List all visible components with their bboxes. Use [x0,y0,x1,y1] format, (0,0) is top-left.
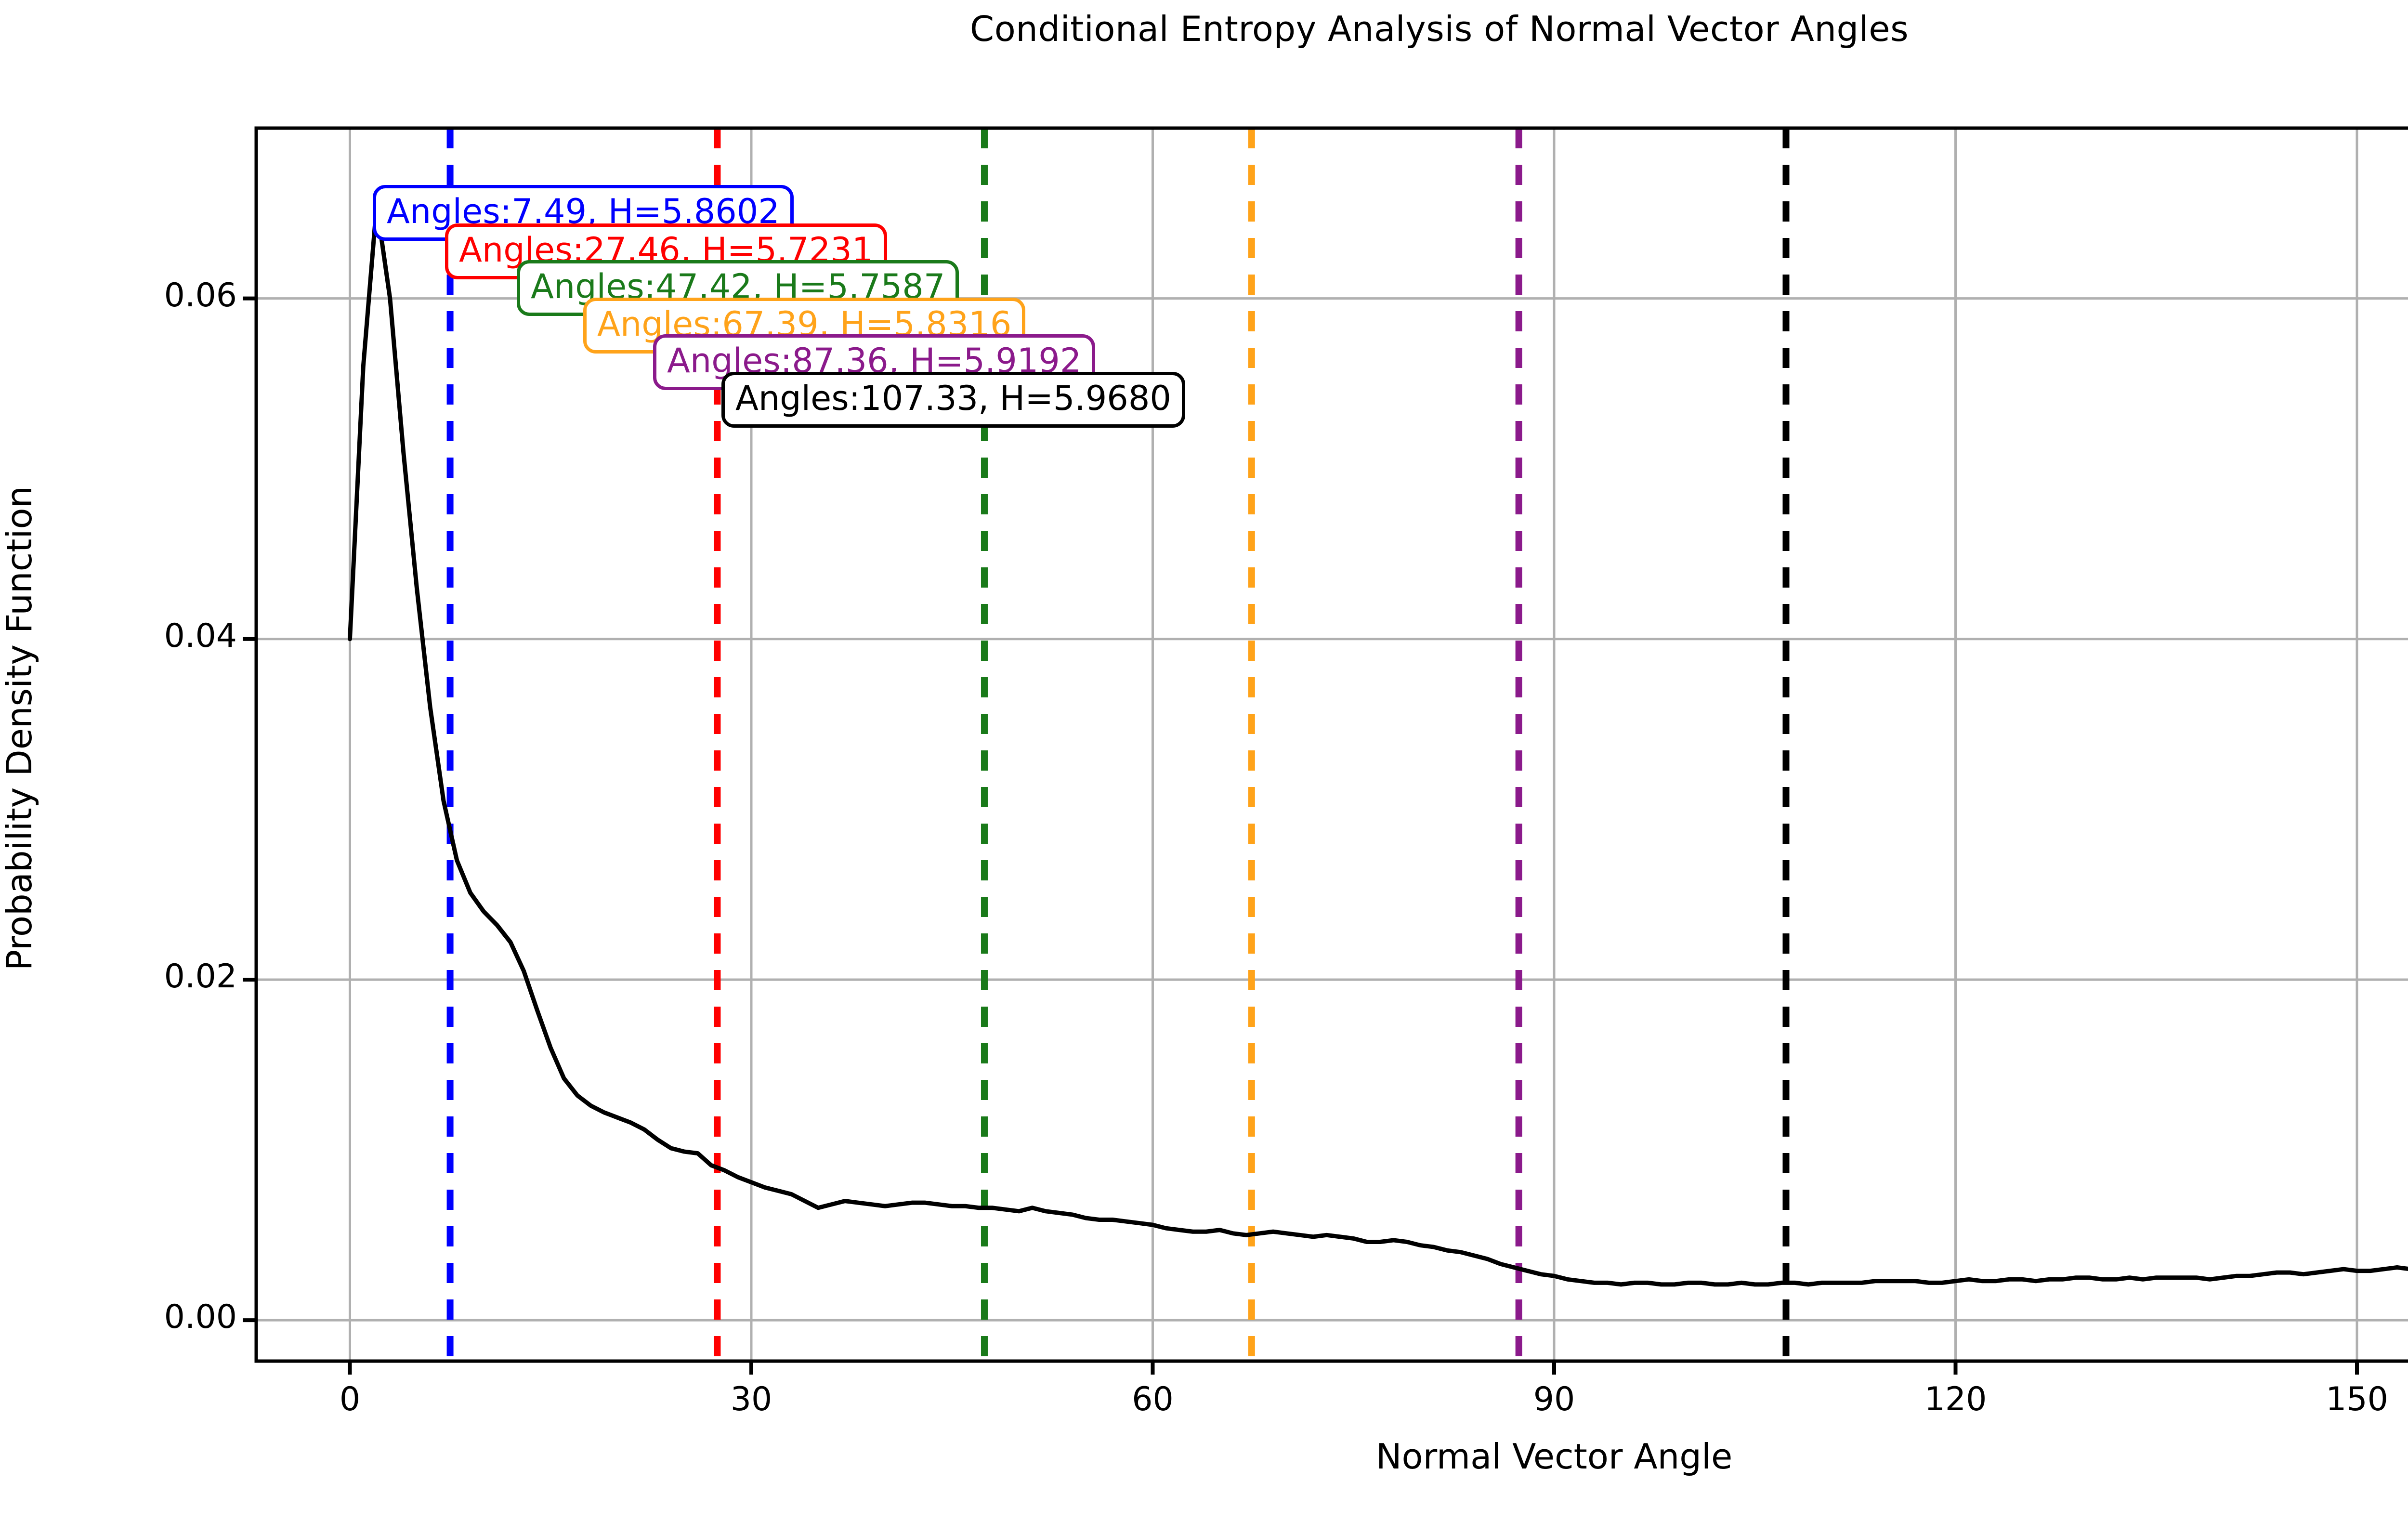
entropy-annotation-label: Angles:107.33, H=5.9680 [721,372,1185,428]
x-tick-label: 150 [2285,1380,2408,1418]
y-tick-label: 0.02 [35,957,237,996]
x-tick-label: 120 [1884,1380,2028,1418]
x-tick-label: 30 [679,1380,824,1418]
y-tick-label: 0.06 [35,276,237,315]
x-tick-label: 60 [1080,1380,1225,1418]
x-axis-label: Normal Vector Angle [256,1436,2408,1477]
chart-title: Conditional Entropy Analysis of Normal V… [0,9,2408,49]
y-tick-label: 0.04 [35,617,237,655]
figure: Conditional Entropy Analysis of Normal V… [0,0,2408,1534]
y-axis-label: Probability Density Function [0,391,39,1065]
plot-area: Angles:7.49, H=5.8602Angles:27.46, H=5.7… [256,128,2408,1361]
x-tick-label: 0 [277,1380,422,1418]
y-tick-label: 0.00 [35,1298,237,1336]
x-tick-label: 90 [1482,1380,1626,1418]
